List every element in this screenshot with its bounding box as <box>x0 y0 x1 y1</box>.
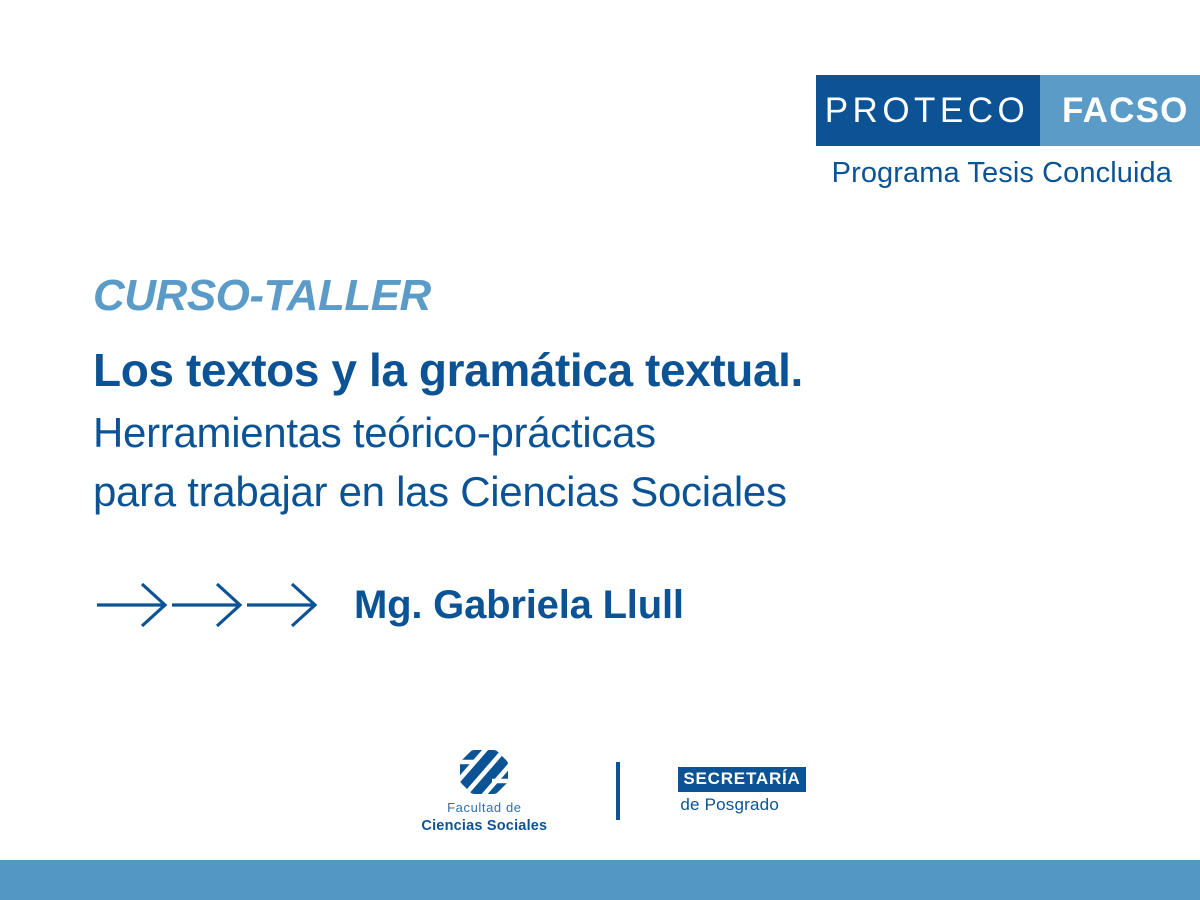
footer-divider <box>616 762 620 820</box>
presenter-name: Mg. Gabriela Llull <box>354 583 684 628</box>
subtitle-line-1: Herramientas teórico-prácticas <box>93 409 656 457</box>
bottom-accent-bar <box>0 860 1200 900</box>
presenter-row: Mg. Gabriela Llull <box>95 578 684 632</box>
arrow-right-icon <box>95 578 170 632</box>
facso-emblem-icon <box>458 748 510 796</box>
program-subtitle: Programa Tesis Concluida <box>600 157 1172 190</box>
arrow-right-icon <box>245 578 320 632</box>
secretariat-line-2: de Posgrado <box>678 795 779 815</box>
brand-proteco-label: PROTECO <box>816 75 1040 146</box>
secretariat-line-1: SECRETARÍA <box>678 767 805 792</box>
faculty-line-1: Facultad de <box>447 800 522 815</box>
faculty-logo: Facultad de Ciencias Sociales <box>394 748 574 834</box>
secretariat-logo: SECRETARÍA de Posgrado <box>678 767 805 815</box>
brand-facso-label: FACSO <box>1040 75 1200 146</box>
arrow-group <box>95 578 320 632</box>
course-kicker: CURSO-TALLER <box>93 271 431 321</box>
faculty-line-2: Ciencias Sociales <box>421 818 547 834</box>
arrow-right-icon <box>170 578 245 632</box>
page-title: Los textos y la gramática textual. <box>93 343 803 397</box>
brand-logo-block: PROTECO FACSO <box>816 75 1200 146</box>
footer-logo-row: Facultad de Ciencias Sociales SECRETARÍA… <box>0 748 1200 834</box>
slide-canvas: PROTECO FACSO Programa Tesis Concluida C… <box>0 0 1200 900</box>
subtitle-line-2: para trabajar en las Ciencias Sociales <box>93 468 787 516</box>
